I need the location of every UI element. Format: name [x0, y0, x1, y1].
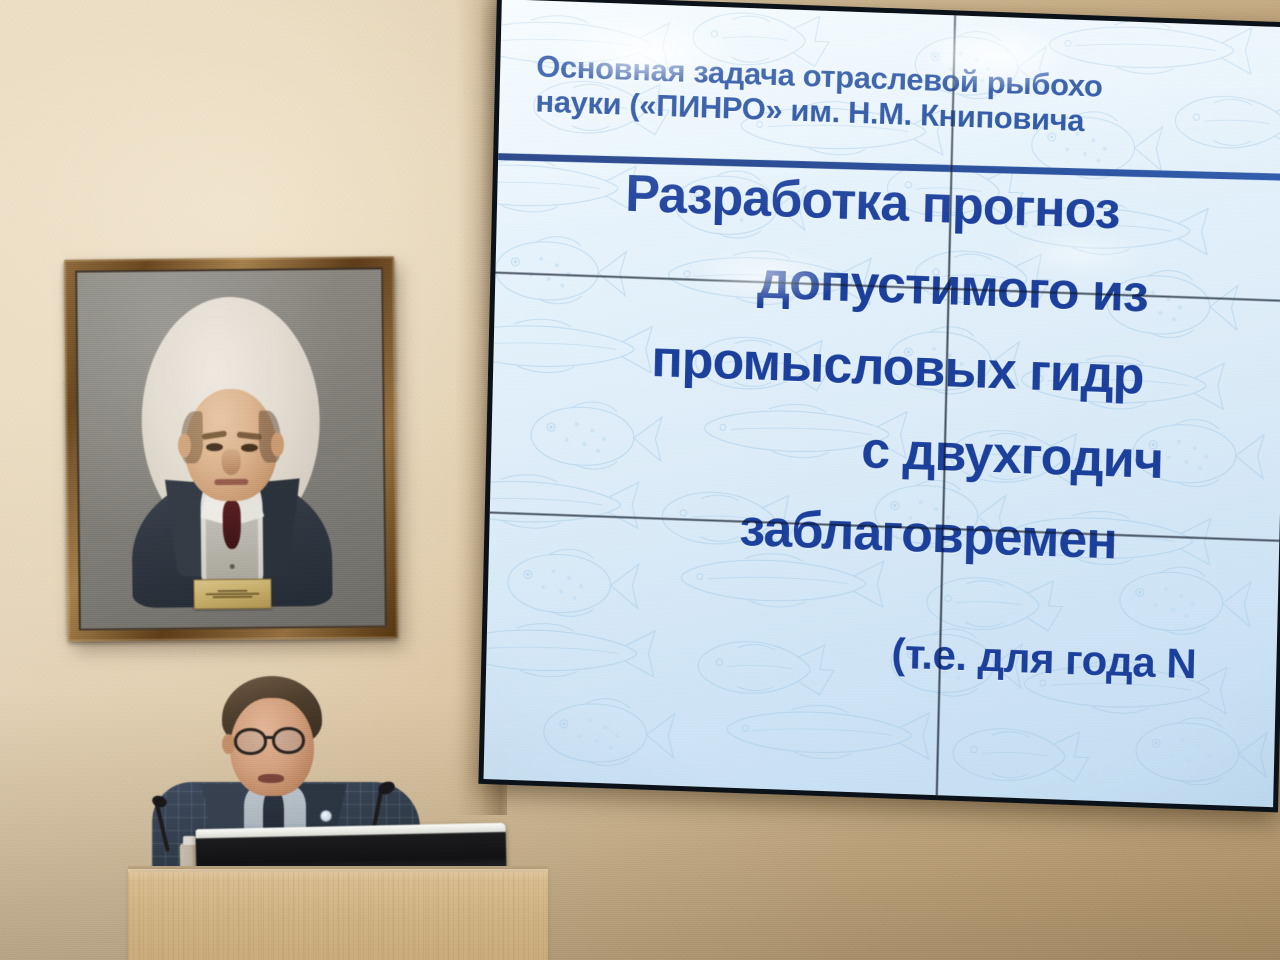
speaker-lapel-pin [320, 810, 332, 822]
podium-wood-grain [128, 872, 548, 960]
slide-body-line: заблаговремен [739, 502, 1117, 567]
slide-body-line: с двухгодич [861, 424, 1164, 487]
slide-body-line: промысловых гидр [651, 333, 1144, 403]
portrait-mouth [214, 479, 248, 485]
speaker-ear [222, 734, 235, 754]
nameplate-line [217, 590, 247, 592]
speaker-eyeglass-bridge [266, 736, 274, 739]
portrait-vest-button [230, 564, 235, 569]
portrait-mat [75, 267, 387, 630]
photo-scene: Основная задача отраслевой рыбохо науки … [0, 0, 1280, 960]
portrait-ear-left [178, 433, 191, 457]
video-wall-display: Основная задача отраслевой рыбохо науки … [484, 0, 1280, 807]
video-wall-bezel: Основная задача отраслевой рыбохо науки … [478, 0, 1280, 812]
speaker-eyeglass-right [272, 727, 305, 754]
nameplate-line [213, 596, 253, 598]
picture-frame [64, 256, 398, 641]
water-bottle-cap [183, 836, 196, 845]
slide-body-line: (т.е. для года N [891, 629, 1197, 688]
portrait-ear-right [271, 432, 284, 456]
portrait-brow-left [202, 430, 228, 440]
portrait-nose [222, 449, 241, 475]
slide-body-line: Разработка прогноз [625, 168, 1120, 238]
speaker-eyeglass-left [234, 728, 267, 755]
slide-content: Основная задача отраслевой рыбохо науки … [484, 0, 1280, 807]
slide-title: Основная задача отраслевой рыбохо науки … [535, 48, 1280, 145]
portrait-necktie [223, 501, 242, 549]
podium [128, 872, 548, 960]
portrait-eye-right [241, 444, 258, 452]
video-wall: Основная задача отраслевой рыбохо науки … [478, 0, 1280, 812]
portrait-eye-left [206, 443, 223, 451]
speaker-mouth [258, 774, 284, 783]
framed-portrait [64, 256, 398, 641]
podium-edge [128, 866, 548, 869]
portrait-nameplate [193, 579, 271, 610]
